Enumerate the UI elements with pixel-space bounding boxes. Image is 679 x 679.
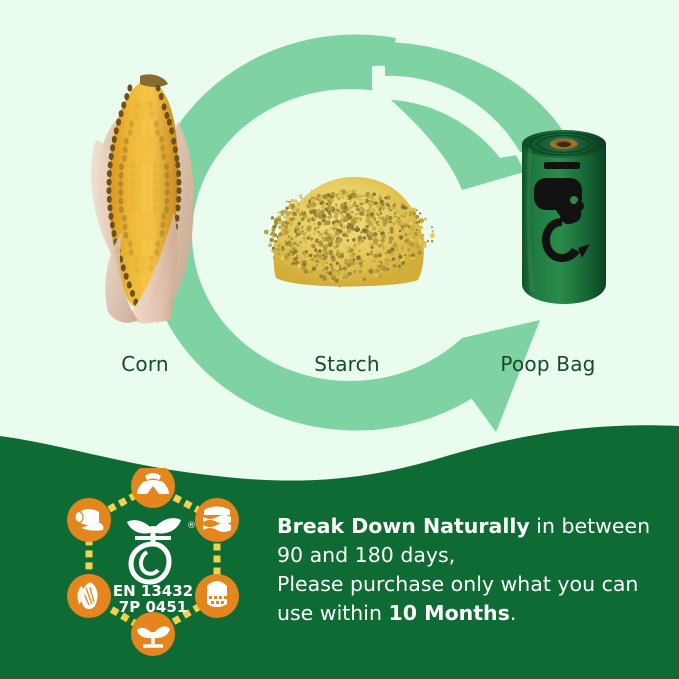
seedling-icon: [131, 612, 175, 656]
layers-stack-icon: [195, 498, 239, 542]
stage-label-starch: Starch: [287, 352, 407, 376]
stage-label-corn: Corn: [85, 352, 205, 376]
registered-mark: ®: [187, 521, 196, 531]
stage-label-poop-bag: Poop Bag: [483, 352, 613, 376]
poop-bag-roll-image: [516, 122, 612, 312]
paper-cup-icon: [195, 574, 239, 618]
claim-line-3: Please purchase only what you can: [277, 570, 657, 599]
claim-line-4: use within 10 Months.: [277, 599, 657, 628]
compostable-certification-badge: ® EN 13432 7P 0451: [57, 468, 249, 660]
claim-line-1-rest: in between: [530, 514, 650, 538]
product-lifecycle-scene: Corn Starch Poop Bag: [0, 0, 679, 450]
claim-line-4-tail: .: [510, 601, 517, 625]
corn-starch-powder-image: [258, 160, 438, 295]
compost-bag-icon: [131, 468, 175, 508]
corn-cob-icon: [67, 574, 111, 618]
biodegradation-claim-text: Break Down Naturally in between 90 and 1…: [277, 512, 657, 628]
bag-roll-icon: [67, 498, 111, 542]
claim-line-1: Break Down Naturally in between: [277, 512, 657, 541]
claim-line-4-bold: 10 Months: [389, 601, 510, 625]
ok-compost-seedling-logo: [127, 518, 181, 582]
claim-line-4-rest: use within: [277, 601, 389, 625]
infographic-page: Corn Starch Poop Bag ® EN 13432 7P 0451: [0, 0, 679, 679]
corn-cob-image: [78, 62, 218, 327]
claim-line-2: 90 and 180 days,: [277, 541, 657, 570]
claim-line-1-bold: Break Down Naturally: [277, 514, 530, 538]
